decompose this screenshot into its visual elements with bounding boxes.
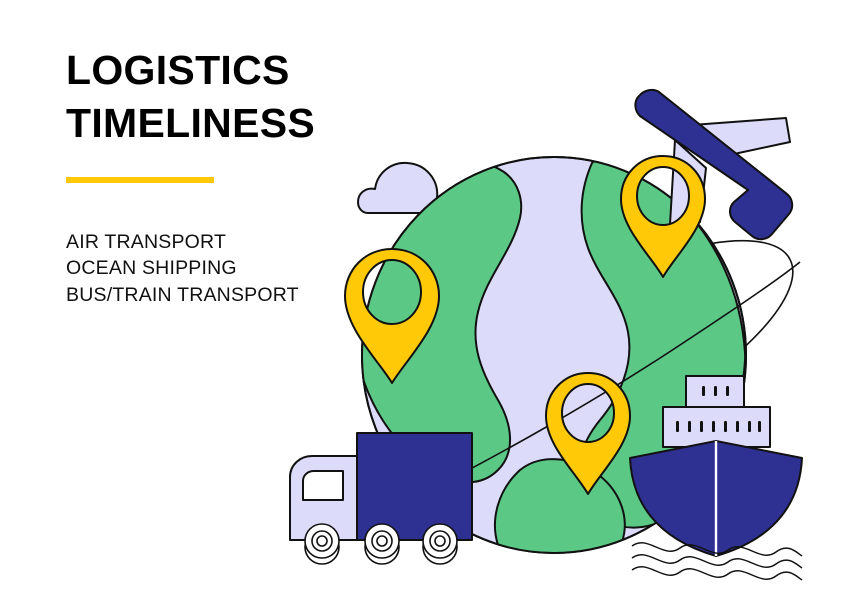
wheel-middle — [365, 524, 399, 564]
truck-wheels — [305, 524, 457, 564]
truck-icon — [290, 433, 472, 564]
poster-canvas: LOGISTICS TIMELINESS AIR TRANSPORT OCEAN… — [0, 0, 850, 604]
cloud-icon — [358, 163, 437, 213]
wheel-rear — [423, 524, 457, 564]
wheel-front — [305, 524, 339, 564]
logistics-illustration — [0, 0, 850, 604]
